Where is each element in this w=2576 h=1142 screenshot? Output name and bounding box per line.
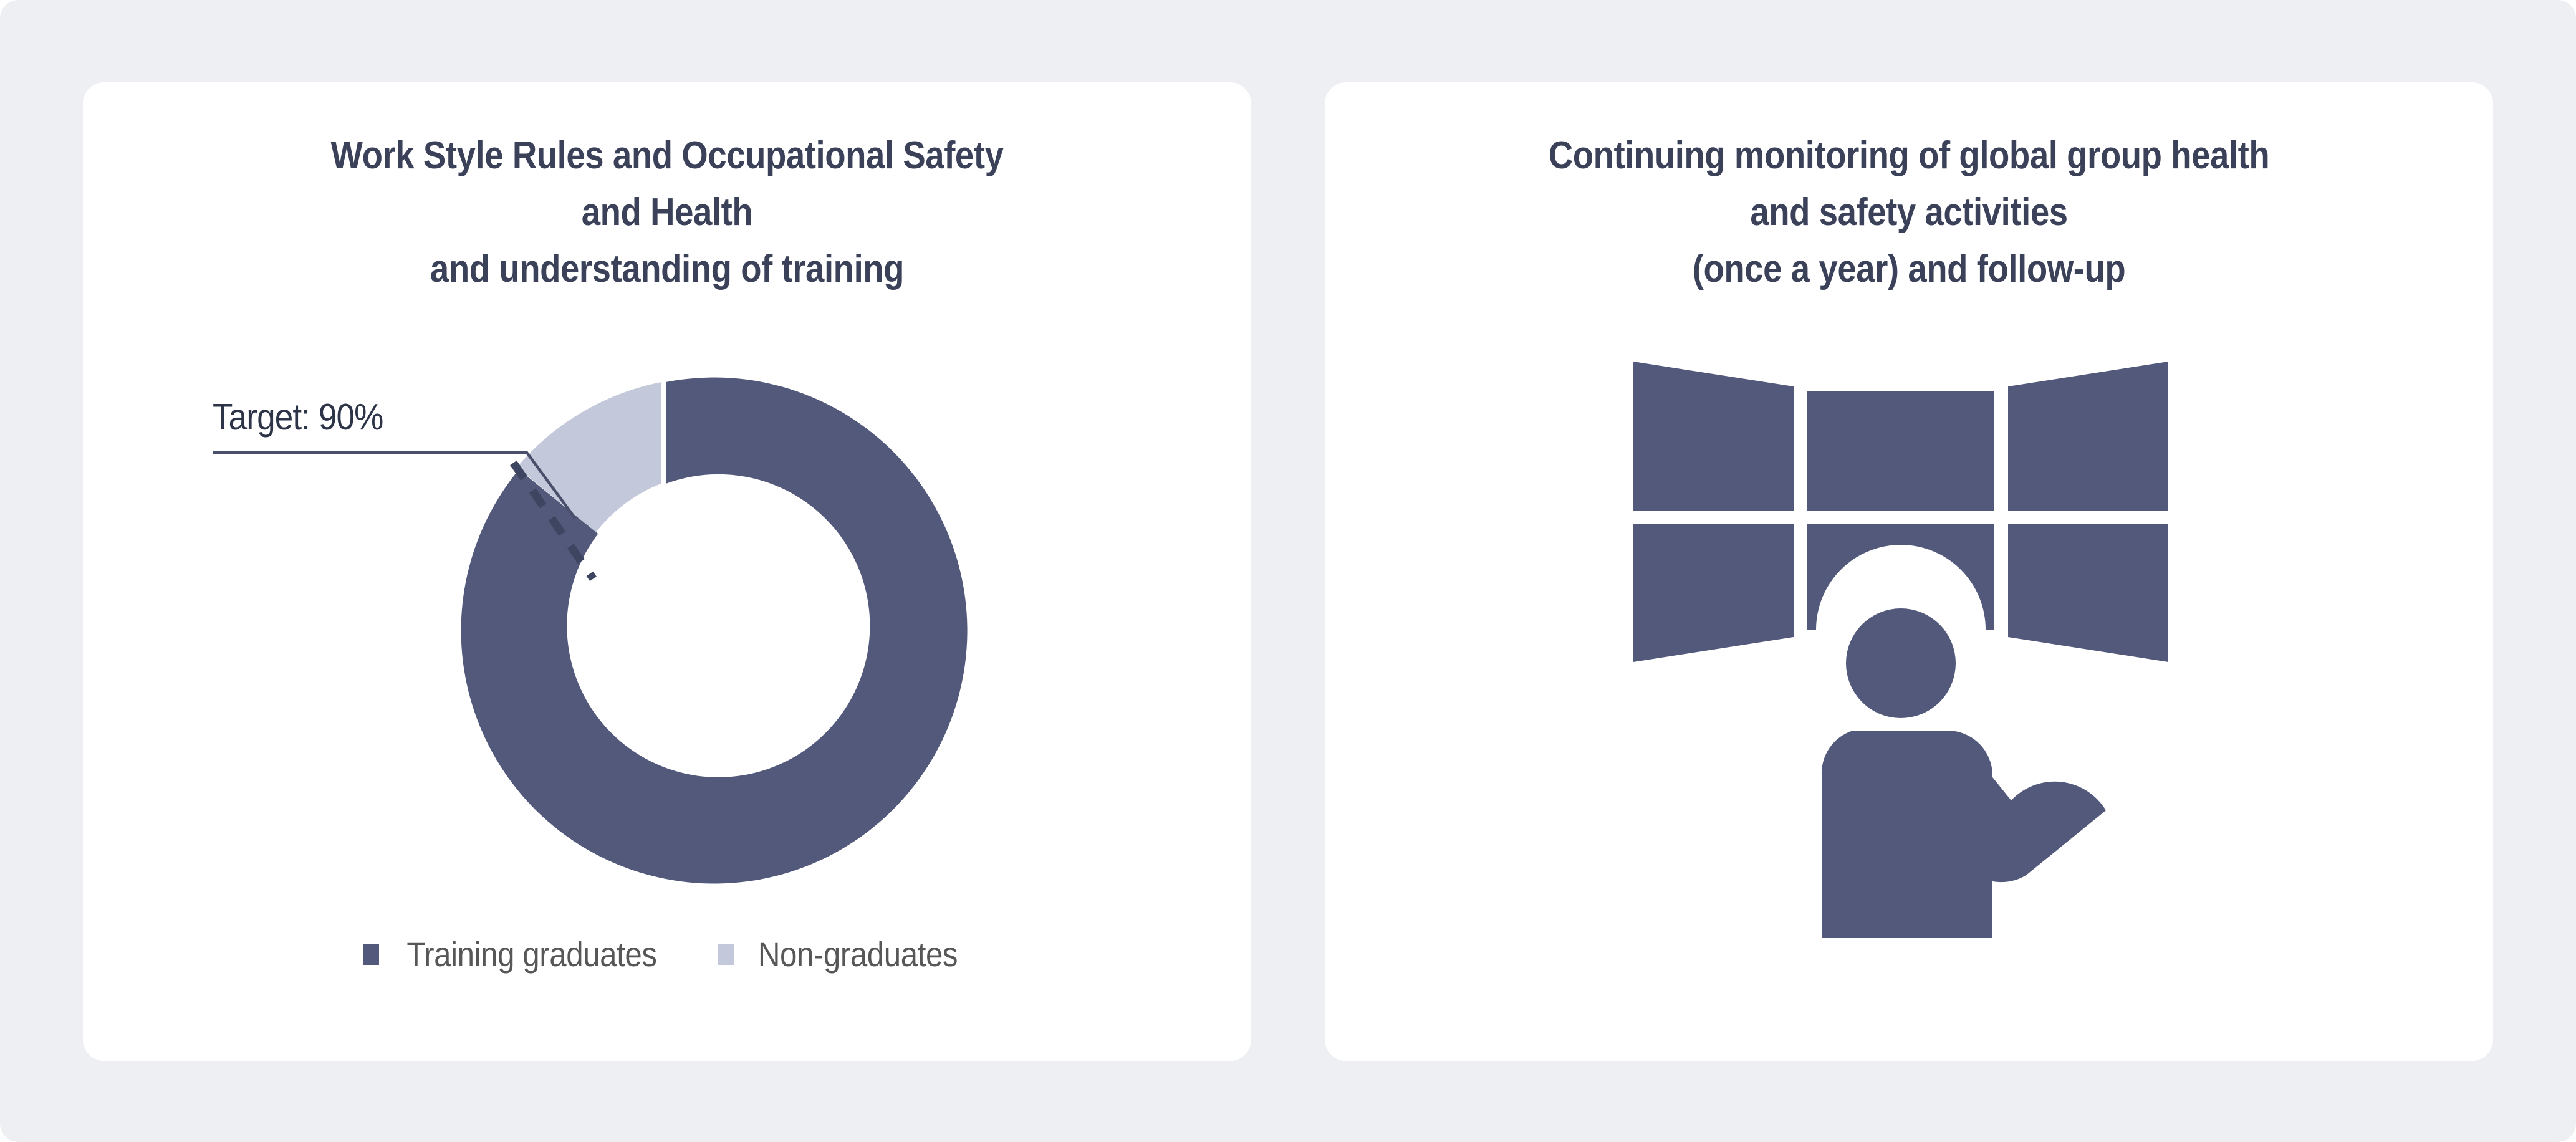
screen-panel-top-left (1633, 362, 1794, 511)
page-root: Work Style Rules and Occupational Safety… (0, 0, 2576, 1142)
target-annotation-label: Target: 90% (213, 398, 383, 436)
legend-item-label: Training graduates (406, 934, 656, 974)
legend-square-icon (363, 944, 379, 965)
legend-item-non-graduates[interactable]: Non-graduates (718, 934, 971, 974)
legend-item-training-graduates[interactable]: Training graduates (363, 934, 674, 974)
legend-item-label: Non-graduates (758, 934, 958, 974)
screen-panel-bottom-right (2008, 524, 2168, 662)
donut-chart-svg (83, 82, 1251, 1061)
presenter-head (1846, 608, 1956, 718)
donut-chart: Target: 90% (83, 82, 1251, 1061)
presenter-at-screen-icon (1628, 357, 2189, 943)
card-global-monitoring: Continuing monitoring of global group he… (1325, 82, 2493, 1061)
legend-square-icon (718, 944, 734, 965)
screen-panel-top-right (2008, 362, 2168, 511)
card-training-understanding: Work Style Rules and Occupational Safety… (83, 82, 1251, 1061)
screen-panel-top-center (1807, 391, 1994, 511)
chart-legend: Training graduates Non-graduates (83, 934, 1251, 974)
screen-panel-bottom-left (1633, 524, 1794, 662)
page-title: Continuing monitoring of global group he… (1395, 127, 2423, 297)
